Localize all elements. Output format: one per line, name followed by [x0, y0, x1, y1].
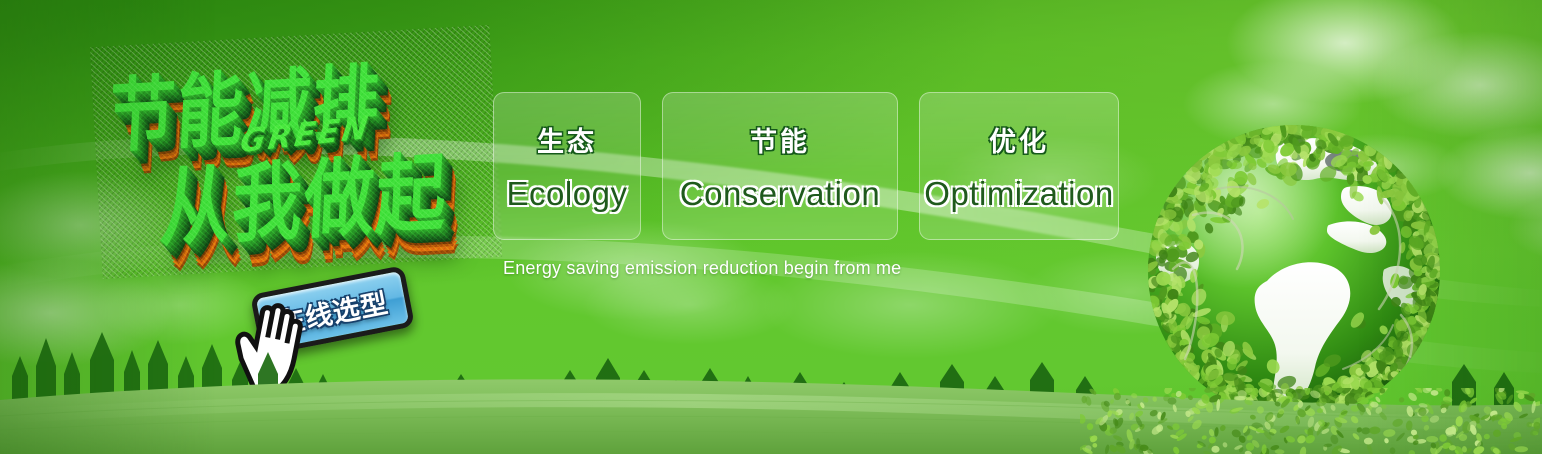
banner-tagline: Energy saving emission reduction begin f… [503, 258, 901, 279]
panel-optimization-cn: 优化 [989, 120, 1049, 159]
panel-ecology-en: Ecology [507, 175, 628, 213]
panel-conservation-cn: 节能 [750, 120, 810, 159]
title-artwork: 节能减排 从我做起 GREEN [90, 25, 502, 279]
panel-ecology[interactable]: 生态 Ecology [493, 92, 641, 240]
panel-ecology-cn: 生态 [537, 120, 597, 159]
green-energy-banner: 节能减排 从我做起 GREEN 在线选型 生态 Ecology 节能 Conse… [0, 0, 1542, 454]
panel-optimization[interactable]: 优化 Optimization [919, 92, 1119, 240]
panel-conservation-en: Conservation [680, 175, 880, 213]
feature-panels: 生态 Ecology 节能 Conservation 优化 Optimizati… [493, 92, 1119, 240]
leaf-litter-icon [1080, 388, 1540, 454]
panel-conservation[interactable]: 节能 Conservation [662, 92, 898, 240]
panel-optimization-en: Optimization [924, 175, 1113, 213]
